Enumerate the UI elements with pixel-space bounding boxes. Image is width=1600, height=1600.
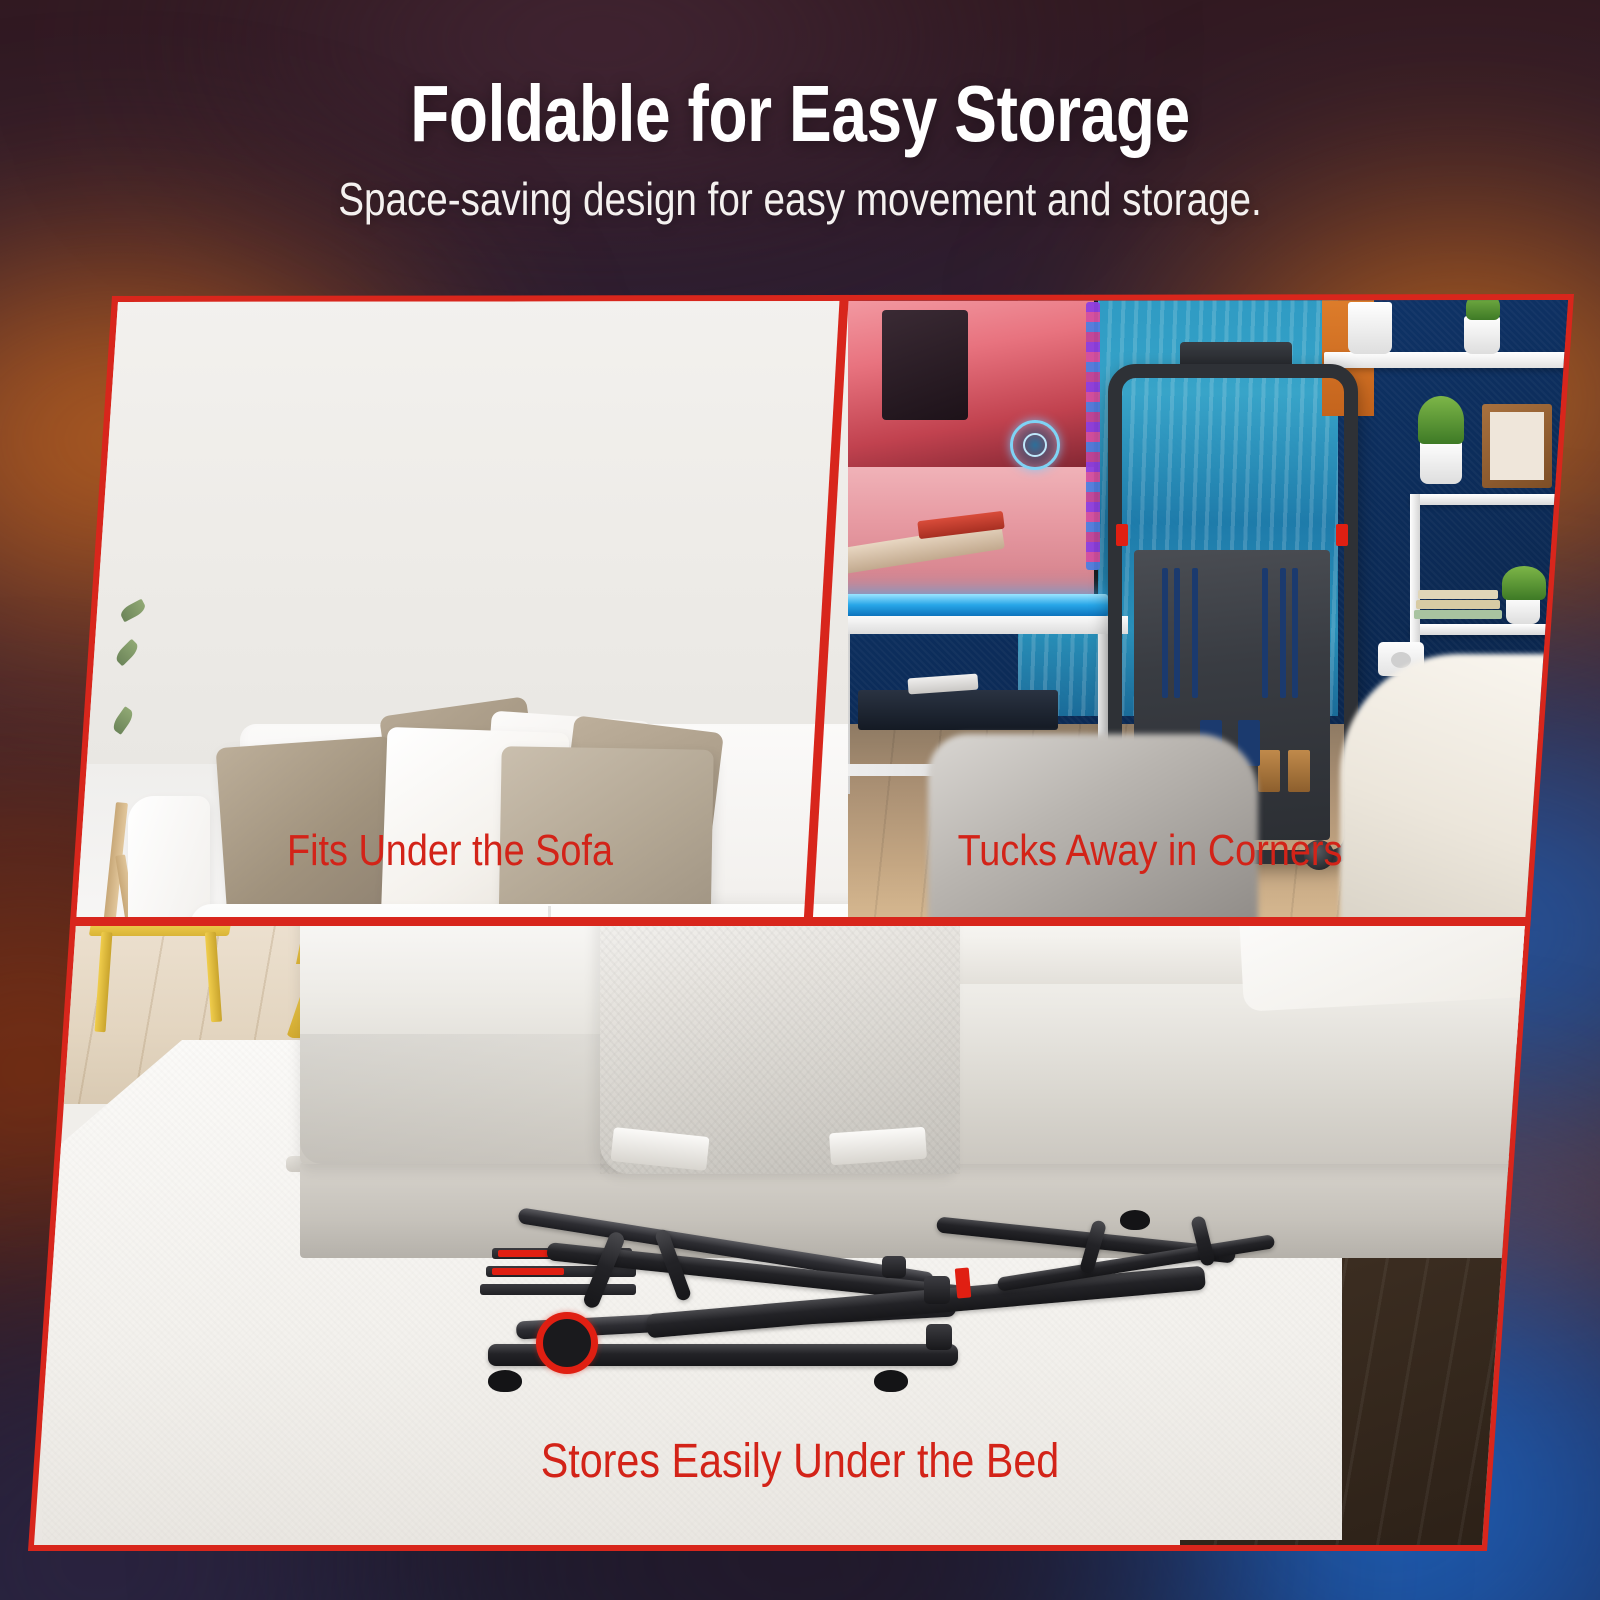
led-desk-light [848,594,1108,616]
game-hud-icon [1010,420,1060,470]
red-accent-band [1116,524,1128,546]
console-device [858,690,1058,730]
blanket-fold [829,1127,927,1166]
plant-pot [1420,440,1462,484]
potted-plant-icon [1418,396,1464,444]
wall-shelf [1324,352,1584,368]
yellow-chair [90,924,230,1034]
deck-slot [1262,568,1268,698]
frame-foot [488,1370,522,1392]
book [1416,600,1500,609]
book [1418,590,1498,599]
television [848,294,1098,608]
picture-frame [1482,404,1552,488]
potted-plant-icon [1502,566,1546,600]
panel-divider-horizontal [28,917,1548,926]
frame-foot [1120,1210,1150,1230]
tv-stand-top [848,616,1128,634]
rgb-light-strip [1086,302,1100,570]
red-accent-band [955,1267,972,1298]
deck-slot [1192,568,1198,698]
folded-frame-under-bed [396,1224,1276,1384]
deck-wood-strip [1258,750,1280,792]
book [1414,610,1502,619]
game-screen [848,294,1094,604]
caption-corner-storage: Tucks Away in Corners [849,826,1451,876]
plant-pot [1464,316,1500,354]
red-accent-band [492,1268,564,1275]
caption-under-bed: Stores Easily Under the Bed [370,1434,1230,1489]
chair-leg [95,932,113,1033]
game-scene-structure [882,310,968,420]
red-accent-band [1336,524,1348,546]
potted-plant-icon [1466,294,1500,320]
plant-pot [1506,596,1540,624]
deck-slot [1162,568,1168,698]
page-title: Foldable for Easy Storage [160,74,1440,154]
sofa [128,724,848,924]
deck-slot [1292,568,1298,698]
red-ring-accent [536,1312,598,1374]
deck-slot [1174,568,1180,698]
header: Foldable for Easy Storage Space-saving d… [0,0,1600,222]
frame-foot [874,1370,908,1392]
frame-plate [480,1284,636,1295]
deck-wood-strip [1288,750,1310,792]
caption-under-sofa: Fits Under the Sofa [158,826,743,876]
page-subtitle: Space-saving design for easy movement an… [128,176,1472,222]
adjustment-knob [882,1256,906,1278]
deck-slot [1280,568,1286,698]
adjustment-knob [926,1324,952,1350]
adjustment-knob [924,1276,950,1304]
chair-leg [205,932,222,1023]
